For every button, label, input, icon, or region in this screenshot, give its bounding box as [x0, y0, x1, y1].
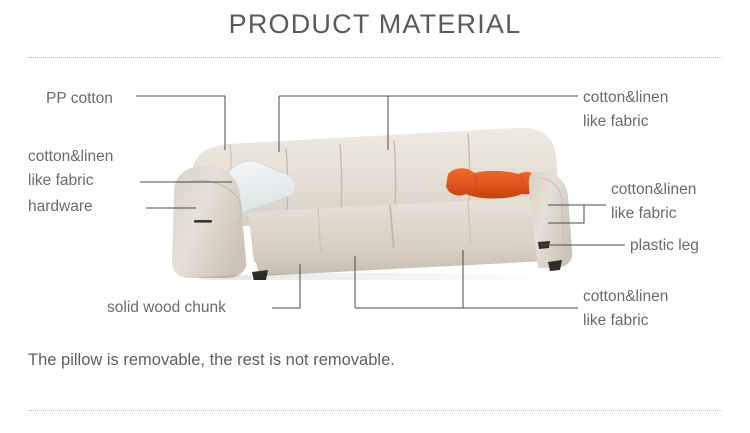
divider-bottom [28, 410, 722, 411]
callout-cotton-linen-bottom-right: cotton&linen like fabric [583, 285, 668, 333]
callout-plastic-leg-line1: plastic leg [630, 234, 699, 258]
orange-bolster-pillow [446, 168, 538, 198]
ground-shadow [198, 273, 558, 280]
callout-cotton-linen-top-right-line1: cotton&linen [583, 86, 668, 110]
callout-solid-wood-chunk: solid wood chunk [107, 296, 226, 320]
callout-cotton-linen-mid-right: cotton&linen like fabric [611, 178, 696, 226]
callout-plastic-leg: plastic leg [630, 234, 699, 258]
callout-cotton-linen-top-right-line2: like fabric [583, 110, 668, 134]
callout-cotton-linen-mid-right-line1: cotton&linen [611, 178, 696, 202]
removability-note: The pillow is removable, the rest is not… [28, 351, 395, 370]
plastic-leg-rear-right [538, 241, 550, 249]
callout-cotton-linen-left-line1: cotton&linen [28, 145, 113, 169]
callout-cotton-linen-left-line2: like fabric [28, 169, 113, 193]
callout-cotton-linen-mid-right-line2: like fabric [611, 202, 696, 226]
sofa-illustration [168, 120, 578, 280]
callout-pp-cotton: PP cotton [46, 87, 113, 111]
callout-pp-cotton-line1: PP cotton [46, 87, 113, 111]
callout-hardware-line1: hardware [28, 195, 93, 219]
callout-cotton-linen-left: cotton&linen like fabric [28, 145, 113, 193]
callout-solid-wood-chunk-line1: solid wood chunk [107, 296, 226, 320]
divider-top [28, 57, 722, 58]
callout-hardware: hardware [28, 195, 93, 219]
callout-cotton-linen-top-right: cotton&linen like fabric [583, 86, 668, 134]
page-title: PRODUCT MATERIAL [0, 9, 750, 40]
hardware-pull [194, 220, 212, 223]
callout-cotton-linen-bottom-right-line1: cotton&linen [583, 285, 668, 309]
product-material-infographic: PRODUCT MATERIAL [0, 0, 750, 433]
callout-cotton-linen-bottom-right-line2: like fabric [583, 309, 668, 333]
